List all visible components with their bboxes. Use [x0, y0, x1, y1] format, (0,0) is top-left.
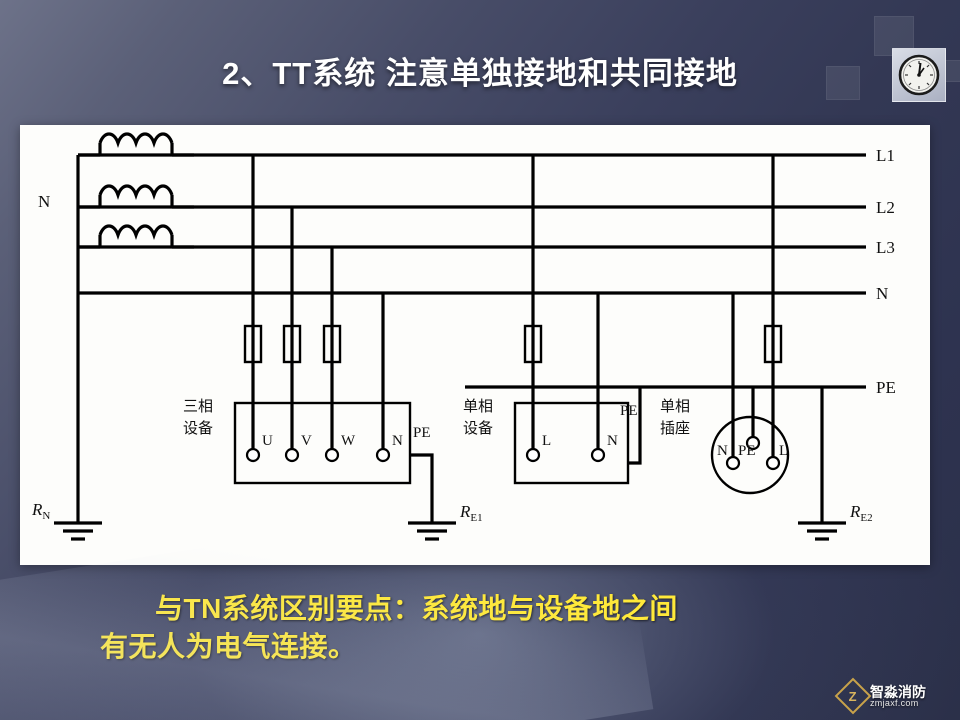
watermark-name: 智淼消防 [870, 685, 926, 699]
socket-terminal-l [767, 457, 779, 469]
watermark-logo-letter: Z [849, 689, 857, 702]
fuse-single-phase [525, 326, 541, 362]
slide-canvas: 2、TT系统 注意单独接地和共同接地 [0, 0, 960, 720]
fuse-socket [765, 326, 781, 362]
bus-label-pe: PE [876, 378, 896, 397]
terminal-u [247, 449, 259, 461]
socket-terminal-label-l: L [779, 443, 788, 459]
caption-line-2: 有无人为电气连接。 [50, 628, 930, 666]
single-phase-pe-lead [628, 387, 640, 463]
earth-electrode-re2: RE2 [798, 387, 873, 539]
source-neutral-label: N [38, 192, 50, 211]
earth-electrode-rn: RN [31, 500, 102, 539]
terminal-n-three-phase [377, 449, 389, 461]
watermark-text: 智淼消防 zmjaxf.com [870, 685, 926, 708]
single-phase-label-line2: 设备 [463, 419, 493, 437]
watermark-logo-icon: Z [835, 678, 872, 715]
bus-label-n: N [876, 284, 888, 303]
socket-terminal-label-n: N [717, 443, 728, 459]
earth-electrode-re1: RE1 [408, 502, 483, 539]
circuit-diagram-panel: N L1 L2 L3 N PE [20, 125, 930, 565]
bus-label-l3: L3 [876, 238, 895, 257]
socket-label-line2: 插座 [660, 419, 690, 437]
fuse-u [245, 326, 261, 362]
three-phase-label-line2: 设备 [183, 419, 213, 437]
three-phase-label-line1: 三相 [183, 397, 213, 415]
terminal-v [286, 449, 298, 461]
socket-terminal-label-pe: PE [738, 443, 756, 459]
three-phase-pe-label: PE [413, 425, 431, 441]
single-phase-label-line1: 单相 [463, 397, 493, 415]
terminal-l-single-phase [527, 449, 539, 461]
terminal-label-l-single-phase: L [542, 433, 551, 449]
single-phase-pe-label: PE [620, 403, 638, 419]
fuse-v [284, 326, 300, 362]
terminal-label-v: V [301, 433, 312, 449]
socket-label-line1: 单相 [660, 397, 690, 415]
fuse-w [324, 326, 340, 362]
tt-system-schematic: N L1 L2 L3 N PE [20, 125, 930, 565]
earth-label-rn: RN [31, 500, 50, 522]
earth-label-re2: RE2 [849, 502, 873, 524]
terminal-label-n-single-phase: N [607, 433, 618, 449]
slide-caption: 与TN系统区别要点：系统地与设备地之间 有无人为电气连接。 [50, 590, 930, 666]
watermark: Z 智淼消防 zmjaxf.com [840, 680, 952, 712]
terminal-label-u: U [262, 433, 273, 449]
bus-label-l1: L1 [876, 146, 895, 165]
terminal-w [326, 449, 338, 461]
earth-label-re1: RE1 [459, 502, 483, 524]
terminal-label-n-three-phase: N [392, 433, 403, 449]
three-phase-pe-lead [410, 455, 432, 515]
transformer-winding-l2 [78, 186, 194, 207]
bus-label-l2: L2 [876, 198, 895, 217]
caption-line-1: 与TN系统区别要点：系统地与设备地之间 [50, 590, 930, 628]
transformer-winding-l1 [78, 134, 194, 155]
terminal-label-w: W [341, 433, 356, 449]
page-title: 2、TT系统 注意单独接地和共同接地 [0, 48, 960, 93]
transformer-winding-l3 [78, 226, 194, 247]
watermark-url: zmjaxf.com [870, 699, 926, 708]
terminal-n-single-phase [592, 449, 604, 461]
